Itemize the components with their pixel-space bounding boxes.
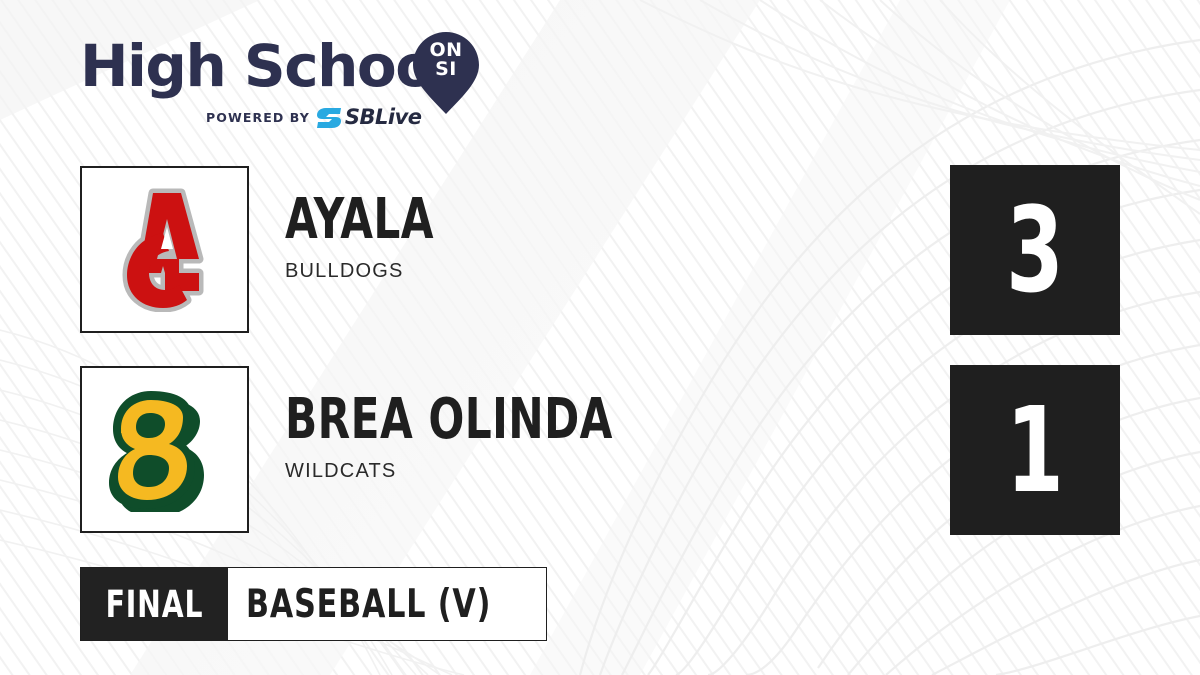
team-info: AYALA BULLDOGS: [285, 192, 462, 283]
powered-by-label: POWERED BY: [206, 110, 310, 125]
map-pin-icon: ON SI: [413, 32, 479, 114]
sport-label-container: BASEBALL (V): [228, 568, 546, 640]
brand-lockup: High School ON SI POWERED BY SBLive: [80, 36, 510, 141]
team-name: AYALA: [285, 192, 434, 248]
sblive-logo: SBLive: [317, 107, 422, 128]
brea-olinda-wildcats-logo: [105, 387, 225, 512]
sblive-s-icon: [317, 108, 343, 128]
sblive-wordmark-italic: ive: [388, 105, 422, 129]
sblive-wordmark: SBLive: [345, 107, 422, 128]
team-mascot: BULLDOGS: [285, 260, 462, 283]
sport-label: BASEBALL (V): [246, 585, 491, 624]
ayala-bulldogs-logo: [107, 187, 222, 312]
team-logo-box: [80, 166, 249, 333]
powered-by-lockup: POWERED BY SBLive: [206, 107, 422, 128]
score-box: 3: [950, 165, 1120, 335]
team-mascot: WILDCATS: [285, 460, 675, 483]
status-badge-label: FINAL: [106, 586, 204, 623]
status-badge: FINAL: [81, 568, 228, 640]
pin-label: ON SI: [413, 41, 479, 79]
score-value: 3: [1006, 191, 1064, 309]
score-value: 1: [1006, 391, 1064, 509]
game-status-bar: FINAL BASEBALL (V): [80, 567, 547, 641]
score-box: 1: [950, 365, 1120, 535]
sblive-wordmark-bold: SBL: [345, 105, 388, 129]
team-info: BREA OLINDA WILDCATS: [285, 392, 675, 483]
team-name: BREA OLINDA: [285, 392, 613, 448]
pin-label-line2: SI: [413, 60, 479, 79]
team-logo-box: [80, 366, 249, 533]
